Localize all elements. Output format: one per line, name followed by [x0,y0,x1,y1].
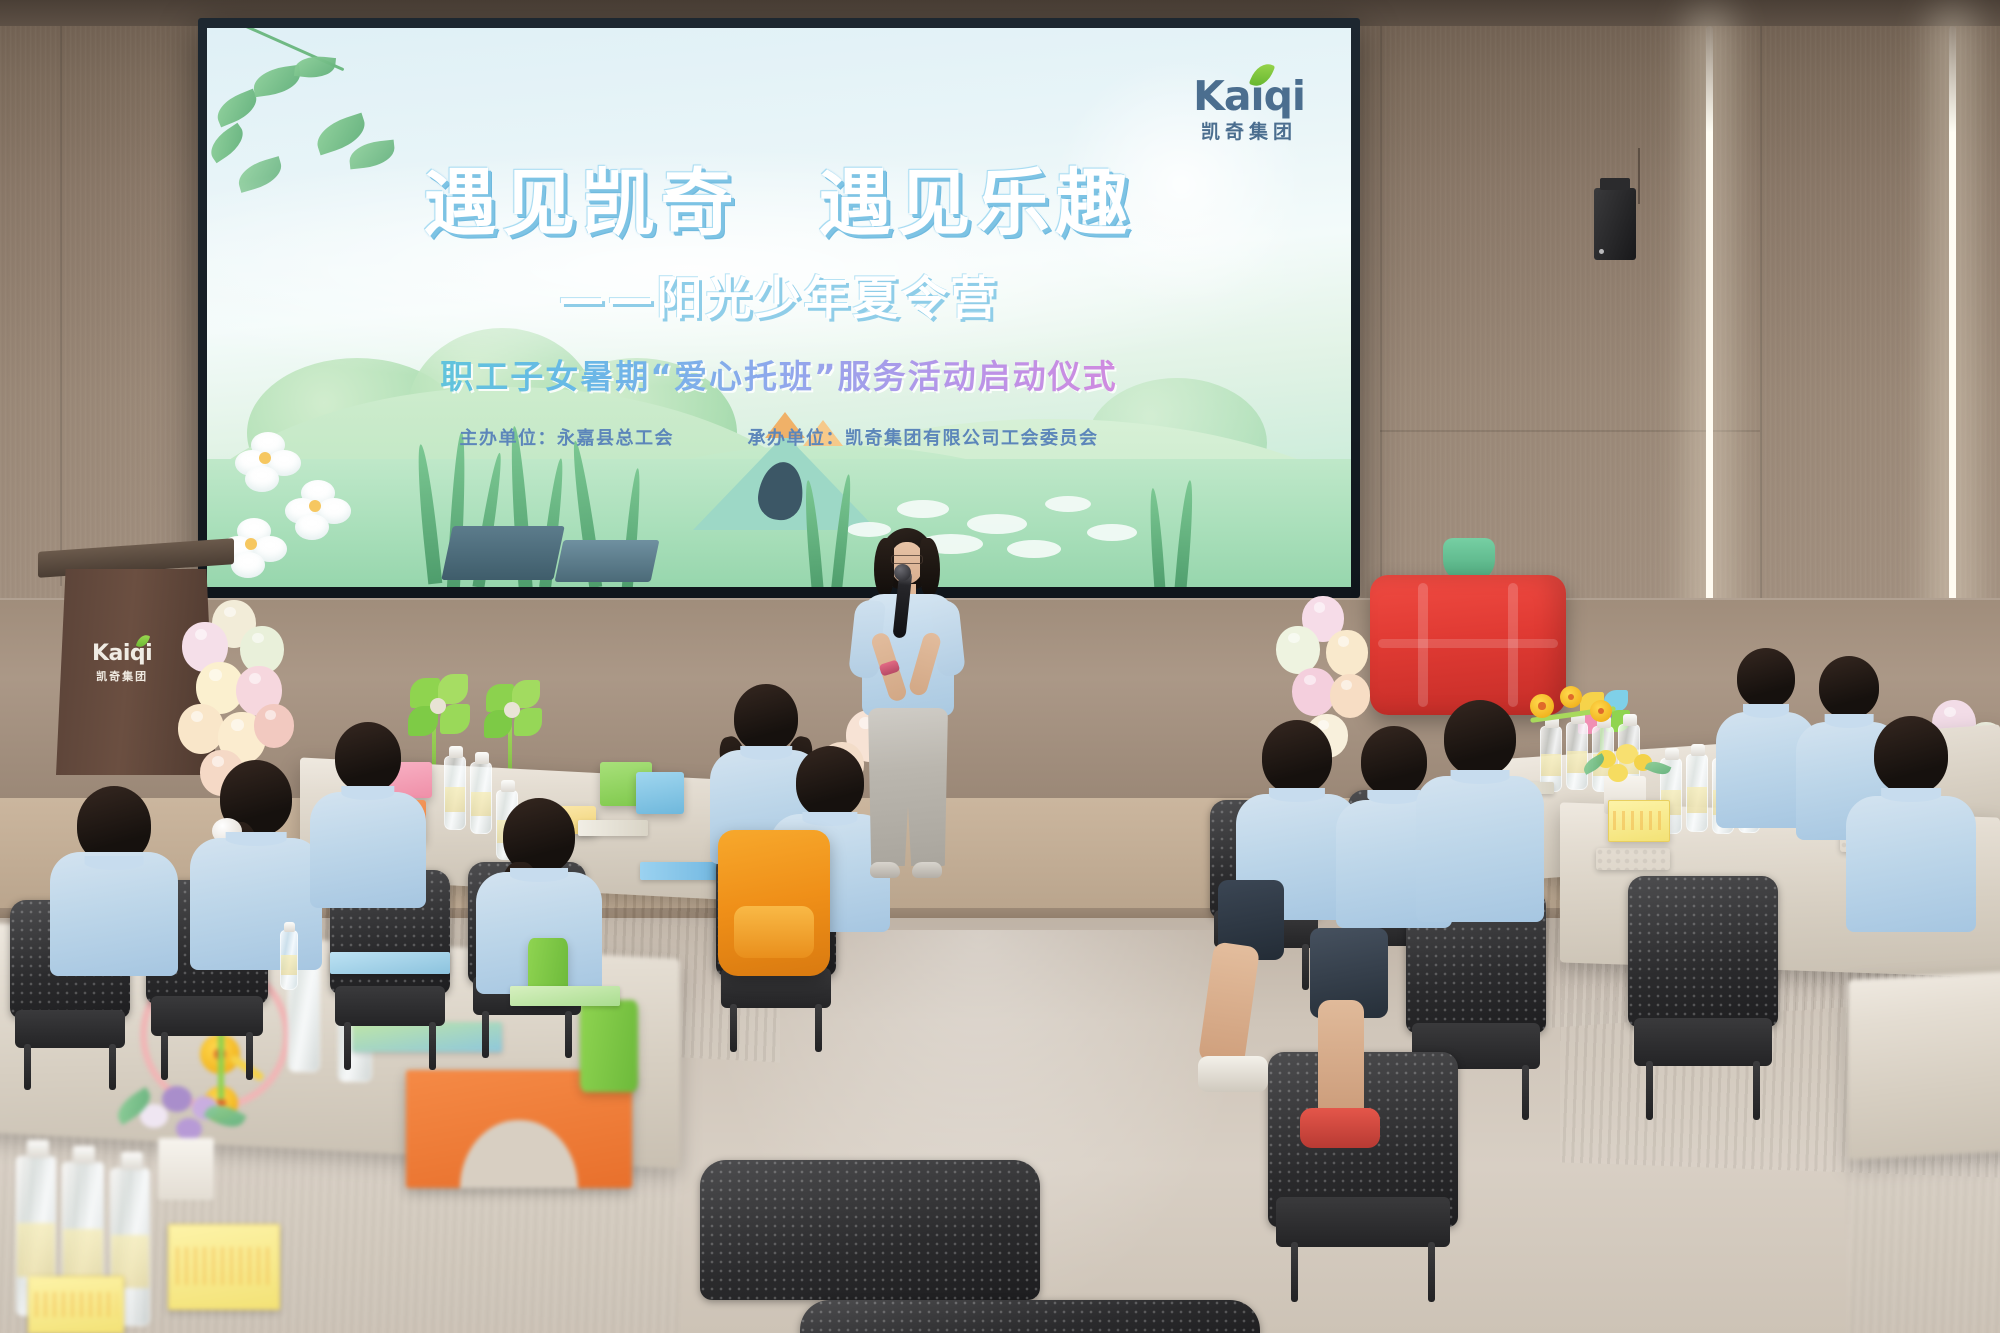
gift-box [1608,800,1670,842]
podium-logo-chinese: 凯奇集团 [92,668,152,684]
child-seated [1416,700,1544,922]
presenter-hair-right [920,538,940,596]
screen-organizers: 主办单位：永嘉县总工会 承办单位：凯奇集团有限公司工会委员会 [207,424,1351,450]
presenter-shoe-right [912,862,942,878]
speaker-cable [1638,148,1640,204]
table-foreground-right [1848,964,2000,1160]
booklet [510,986,620,1006]
glasses-icon [891,555,923,564]
screen-title-main: 遇见凯奇 遇见乐趣 [207,144,1351,250]
screen-stone [1045,496,1091,512]
chair-foreground [800,1300,1260,1333]
backpack-pocket [734,906,815,959]
water-bottle [1686,754,1708,832]
balloon [1276,626,1320,674]
booklet [640,862,726,880]
led-screen[interactable]: Kaiqi 凯奇集团 遇见凯奇 遇见乐趣 ——阳光少年夏令营 职工子女暑期“爱心… [207,28,1351,587]
screen-stone [897,500,949,518]
child-legs [1296,928,1446,1178]
toy-block-blue [636,772,684,814]
screen-book [441,526,564,580]
podium-brand-logo: Kaiqi 凯奇集团 [92,641,152,684]
wall-seam [60,26,62,586]
toy-cylinder-green [580,1000,638,1092]
co-organizer-label: 承办单位：凯奇集团有限公司工会委员会 [748,428,1099,449]
balloon [178,704,224,754]
screen-stone [967,514,1027,534]
screen-text-block: 遇见凯奇 遇见乐趣 ——阳光少年夏令营 职工子女暑期“爱心托班”服务活动启动仪式… [207,144,1351,450]
screen-title-third: 职工子女暑期“爱心托班”服务活动启动仪式 [207,350,1351,398]
led-screen-bezel: Kaiqi 凯奇集团 遇见凯奇 遇见乐趣 ——阳光少年夏令营 职工子女暑期“爱心… [198,18,1360,598]
child-seated [190,760,322,970]
chair [1628,876,1778,1120]
egg-tray [1596,848,1670,870]
table-skirt [1848,1144,2000,1333]
gift-box [28,1276,124,1333]
speaker-led-indicator [1599,249,1604,254]
speaker-mount [1600,178,1630,190]
child-seated [1846,716,1976,932]
event-hall-photo: Kaiqi 凯奇集团 遇见凯奇 遇见乐趣 ——阳光少年夏令营 职工子女暑期“爱心… [0,0,2000,1333]
balloon [1330,674,1370,718]
child-seated [310,722,426,908]
presenter-shoe-left [870,862,900,878]
screen-brand-logo: Kaiqi 凯奇集团 [1193,76,1305,142]
screen-stone [1007,540,1061,558]
backpack [718,830,830,976]
water-bottle [444,756,466,830]
screen-book [555,540,660,582]
child-seated [50,786,178,976]
booklet [330,952,450,974]
screen-stone [1087,524,1137,541]
pumpkin-rib-h [1378,639,1558,648]
presenter-hair-left [874,538,894,596]
screen-logo-chinese: 凯奇集团 [1193,123,1305,142]
wall-seam-horizontal [1380,430,1760,432]
screen-title-sub: ——阳光少年夏令营 [207,262,1351,328]
organizer-label: 主办单位：永嘉县总工会 [459,428,674,449]
microphone-head [894,564,911,581]
presenter-girl [846,528,964,880]
balloon [1326,630,1368,676]
presenter-pants [868,708,948,866]
toy-bead-maze [1530,686,1630,756]
gift-box [168,1224,280,1310]
water-bottle [280,930,298,990]
wall-speaker [1594,188,1636,260]
balloon [254,704,294,748]
